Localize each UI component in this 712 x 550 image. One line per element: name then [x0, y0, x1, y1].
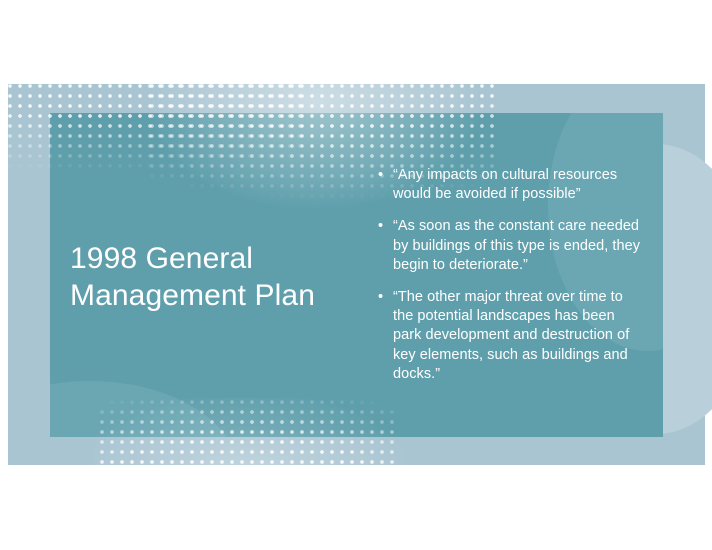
bullet-text: “Any impacts on cultural resources would…: [393, 166, 646, 204]
bullet-text: “As soon as the constant care needed by …: [393, 217, 646, 275]
list-item: • “The other major threat over time to t…: [378, 288, 646, 384]
panel-decorative-circle-bottom-left: [50, 381, 240, 437]
bullet-list: • “Any impacts on cultural resources wou…: [378, 166, 646, 384]
slide-title: 1998 General Management Plan: [70, 240, 360, 314]
list-item: • “Any impacts on cultural resources wou…: [378, 166, 646, 204]
bullet-marker-icon: •: [378, 217, 393, 236]
bullet-text: “The other major threat over time to the…: [393, 288, 646, 384]
bullet-marker-icon: •: [378, 166, 393, 185]
presentation-slide: 1998 General Management Plan • “Any impa…: [0, 0, 712, 550]
list-item: • “As soon as the constant care needed b…: [378, 217, 646, 275]
bullet-marker-icon: •: [378, 288, 393, 307]
